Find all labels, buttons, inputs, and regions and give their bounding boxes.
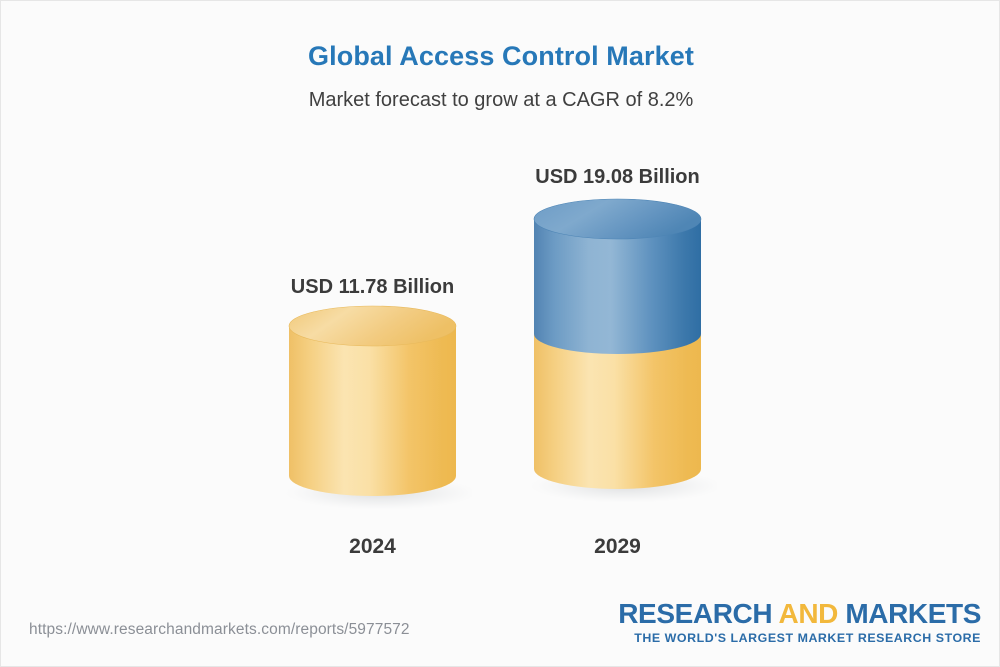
cylinder-top-2024 [289, 306, 456, 346]
cylinder-2024 [273, 295, 472, 525]
cylinder-2029 [518, 193, 717, 518]
plot-area: USD 11.78 Billion [1, 1, 1000, 601]
chart-canvas: Global Access Control Market Market fore… [0, 0, 1000, 667]
logo-wordmark: RESEARCH AND MARKETS [618, 599, 981, 628]
researchandmarkets-logo[interactable]: RESEARCH AND MARKETS THE WORLD'S LARGEST… [618, 599, 981, 645]
bar-value-label-2029: USD 19.08 Billion [494, 166, 741, 189]
source-url[interactable]: https://www.researchandmarkets.com/repor… [29, 621, 410, 639]
logo-word-and: AND [779, 598, 838, 629]
logo-word-markets: MARKETS [838, 598, 981, 629]
logo-word-research: RESEARCH [618, 598, 778, 629]
axis-label-2024: 2024 [249, 535, 496, 559]
cylinder-body-lower-2029 [534, 334, 701, 489]
axis-label-2029: 2029 [494, 535, 741, 559]
cylinder-top-2029 [534, 199, 701, 239]
logo-tagline: THE WORLD'S LARGEST MARKET RESEARCH STOR… [618, 631, 981, 645]
cylinder-body-2024 [289, 326, 456, 496]
